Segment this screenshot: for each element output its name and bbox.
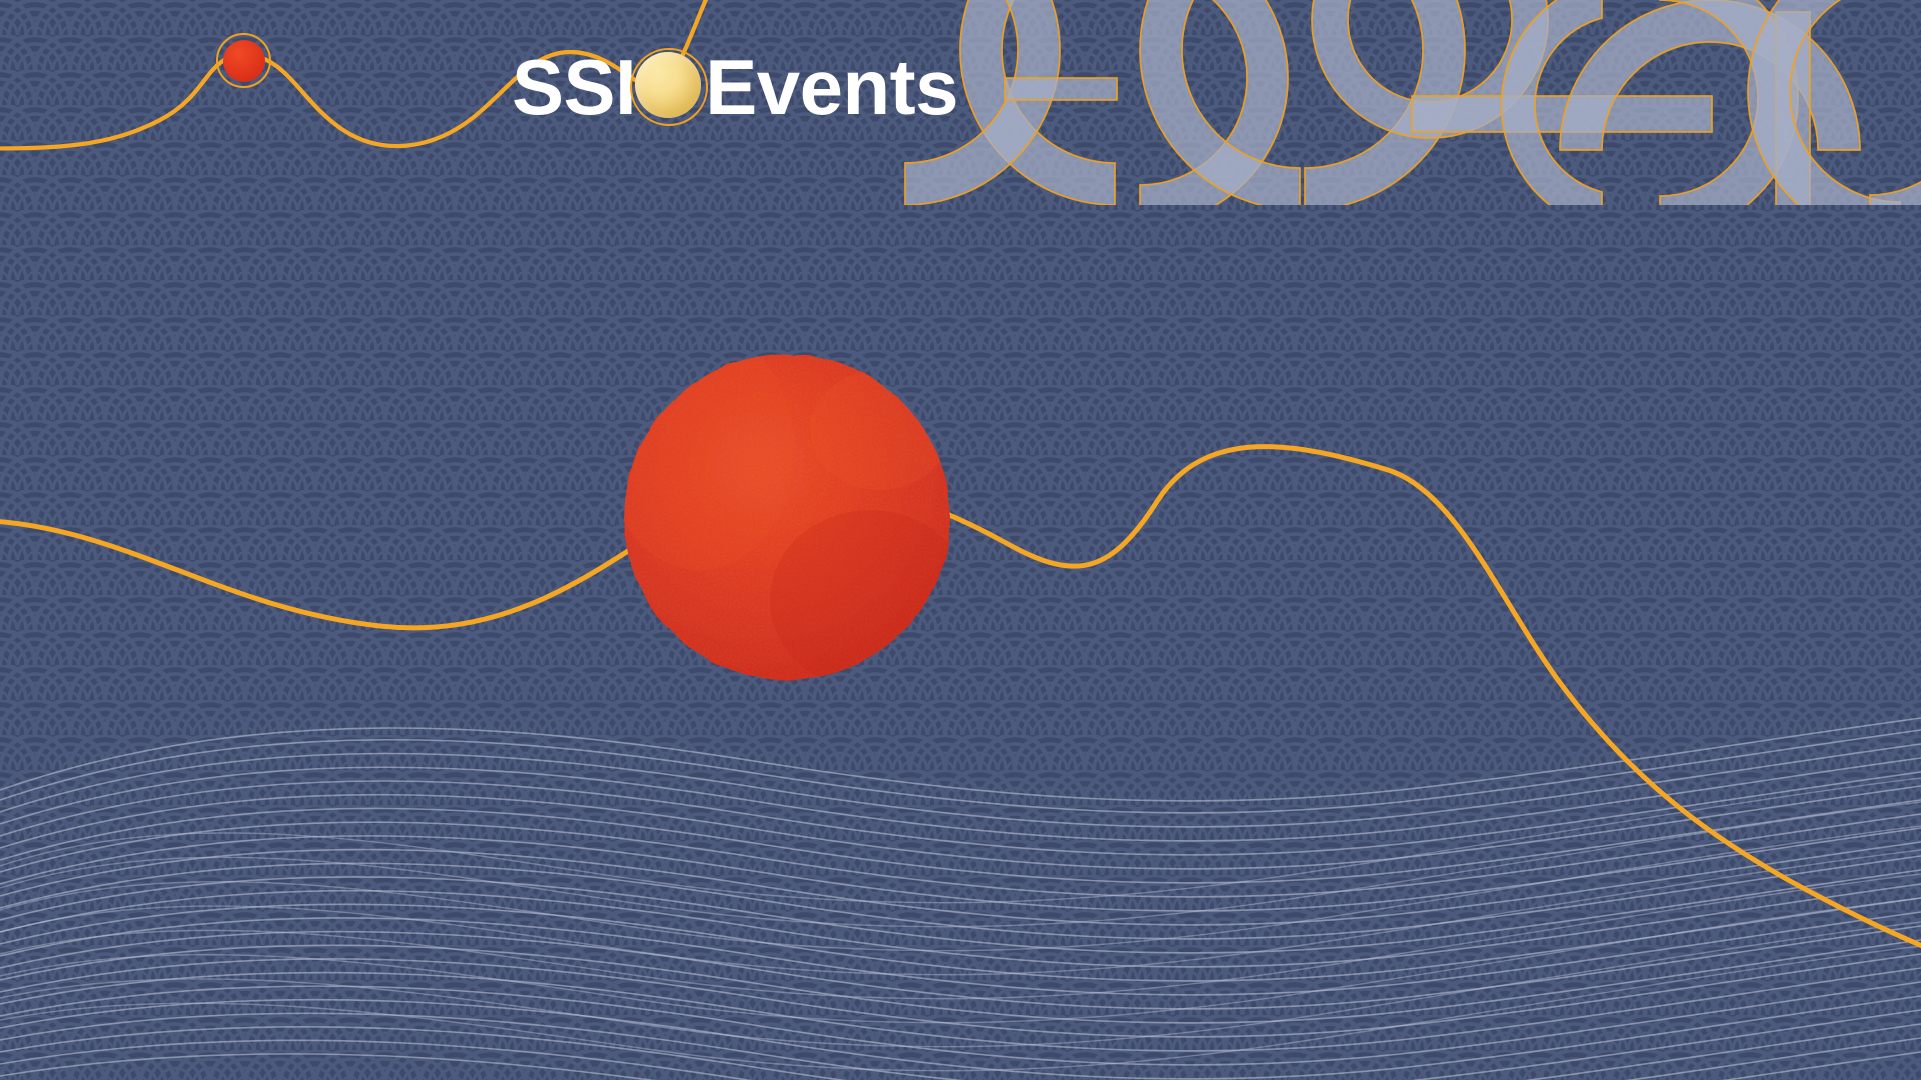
- poster-canvas: SSI Events: [0, 0, 1921, 1080]
- red-sun: [0, 0, 1921, 1080]
- small-red-dot-ring: [216, 33, 271, 88]
- small-red-dot: [216, 33, 272, 89]
